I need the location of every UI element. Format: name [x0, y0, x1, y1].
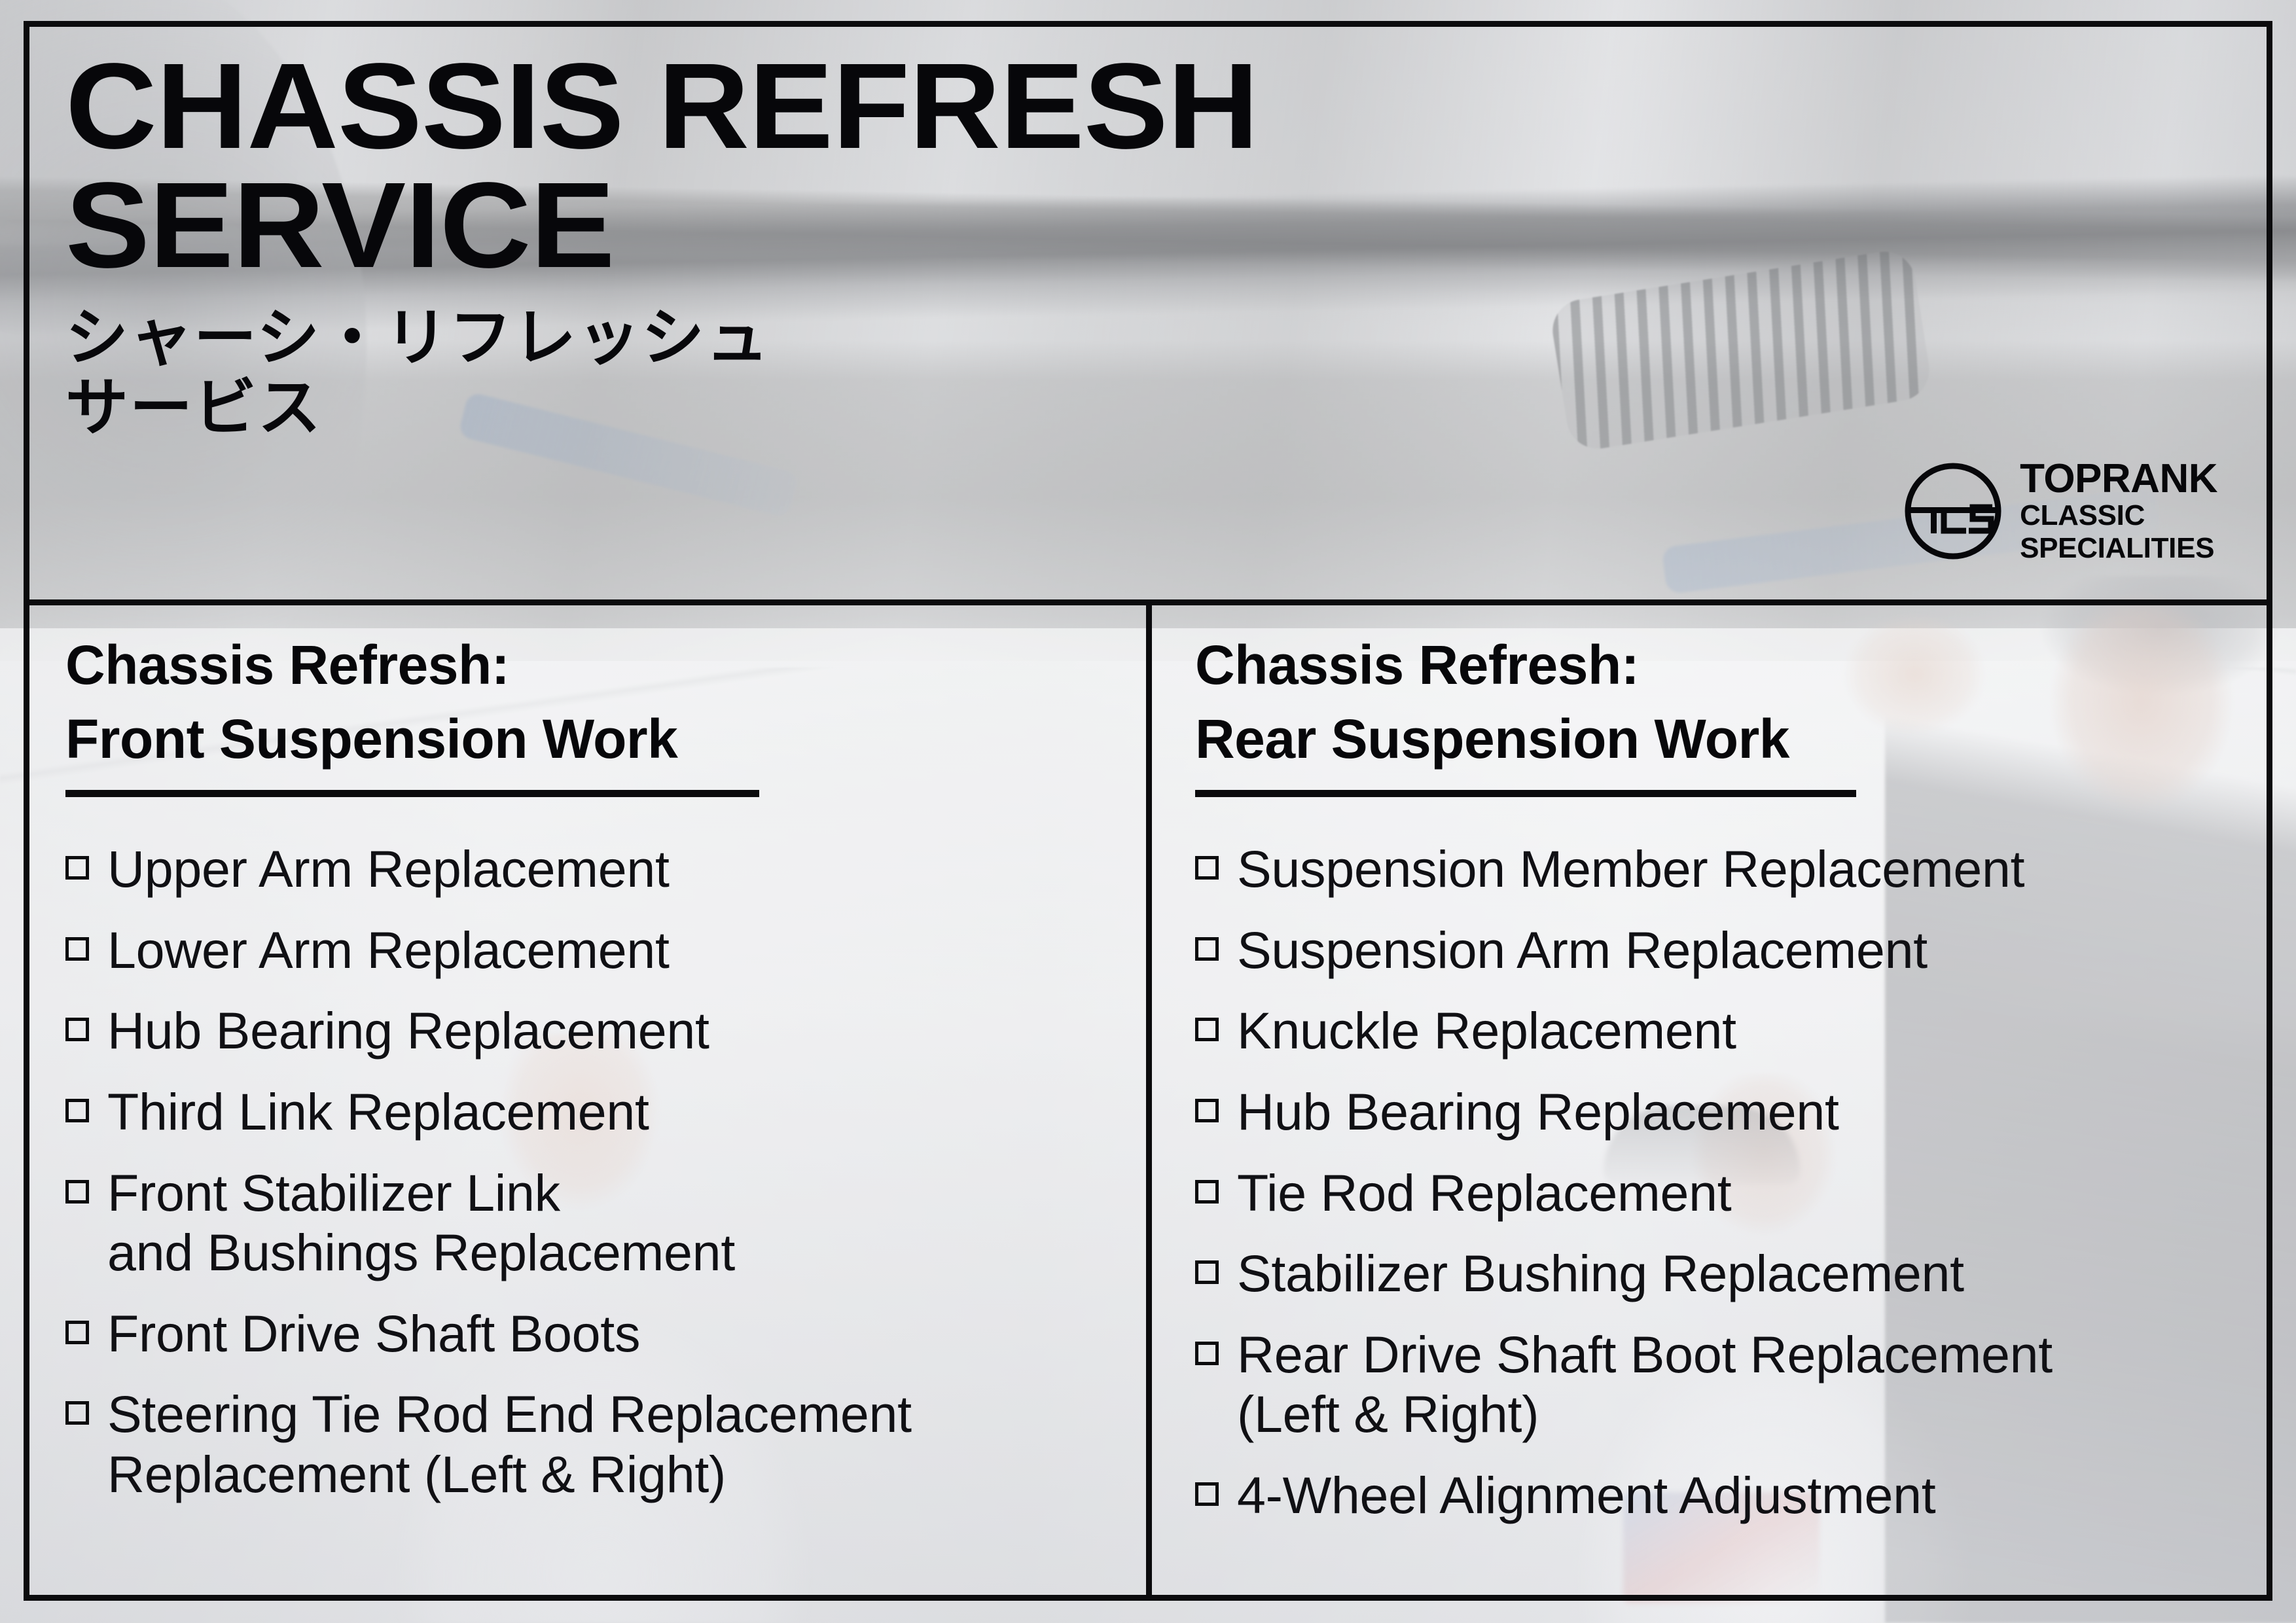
checklist-item-label: Knuckle Replacement — [1237, 1001, 1736, 1061]
rear-suspension-column: Chassis Refresh: Rear Suspension Work Su… — [1195, 628, 2229, 1546]
checkbox-icon[interactable] — [65, 1180, 89, 1204]
rear-column-heading-line-1: Chassis Refresh: — [1195, 628, 2229, 702]
checklist-item-label-continuation: and Bushings Replacement — [107, 1222, 735, 1283]
checklist-item[interactable]: Hub Bearing Replacement — [65, 1001, 1100, 1061]
checklist-item-label: Steering Tie Rod End ReplacementReplacem… — [107, 1384, 912, 1504]
checklist-item[interactable]: Suspension Arm Replacement — [1195, 920, 2229, 980]
front-suspension-column: Chassis Refresh: Front Suspension Work U… — [65, 628, 1100, 1525]
brand-logo: TOPRANK CLASSIC SPECIALITIES — [1903, 458, 2217, 564]
checklist-item[interactable]: Front Drive Shaft Boots — [65, 1304, 1100, 1364]
checklist-item[interactable]: Upper Arm Replacement — [65, 839, 1100, 899]
brand-name-toprank: TOPRANK — [2020, 458, 2217, 499]
checklist-item[interactable]: Stabilizer Bushing Replacement — [1195, 1243, 2229, 1304]
checkbox-icon[interactable] — [65, 1321, 89, 1344]
checkbox-icon[interactable] — [65, 1018, 89, 1041]
rear-suspension-checklist: Suspension Member ReplacementSuspension … — [1195, 839, 2229, 1525]
checkbox-icon[interactable] — [1195, 937, 1219, 961]
checklist-item[interactable]: Hub Bearing Replacement — [1195, 1082, 2229, 1142]
checklist-item-label: Rear Drive Shaft Boot Replacement(Left &… — [1237, 1325, 2053, 1444]
checkbox-icon[interactable] — [65, 1401, 89, 1425]
front-suspension-checklist: Upper Arm ReplacementLower Arm Replaceme… — [65, 839, 1100, 1505]
page-subtitle-japanese: シャーシ・リフレッシュ サービス — [65, 303, 1833, 444]
checklist-item[interactable]: Front Stabilizer Linkand Bushings Replac… — [65, 1163, 1100, 1283]
checkbox-icon[interactable] — [1195, 1018, 1219, 1041]
checklist-item-label: Lower Arm Replacement — [107, 920, 670, 980]
checklist-item-label: Third Link Replacement — [107, 1082, 649, 1142]
brand-name-specialities: SPECIALITIES — [2020, 532, 2217, 564]
checklist-item[interactable]: Rear Drive Shaft Boot Replacement(Left &… — [1195, 1325, 2229, 1444]
checklist-item-label-continuation: (Left & Right) — [1237, 1384, 2053, 1444]
checklist-item-label: Hub Bearing Replacement — [1237, 1082, 1839, 1142]
column-divider-line — [1146, 605, 1152, 1601]
checkbox-icon[interactable] — [65, 1099, 89, 1122]
checklist-item[interactable]: 4-Wheel Alignment Adjustment — [1195, 1465, 2229, 1525]
poster-header: CHASSIS REFRESH SERVICE シャーシ・リフレッシュ サービス — [65, 47, 1833, 444]
checklist-item-label: Front Drive Shaft Boots — [107, 1304, 640, 1364]
checklist-item[interactable]: Tie Rod Replacement — [1195, 1163, 2229, 1223]
page-title-line-1: CHASSIS REFRESH — [65, 47, 1903, 166]
poster-canvas: CHASSIS REFRESH SERVICE シャーシ・リフレッシュ サービス… — [0, 0, 2296, 1623]
checklist-item-label: Suspension Member Replacement — [1237, 839, 2024, 899]
checklist-item[interactable]: Suspension Member Replacement — [1195, 839, 2229, 899]
front-column-heading-line-1: Chassis Refresh: — [65, 628, 1100, 702]
brand-name-classic: CLASSIC — [2020, 499, 2217, 531]
checkbox-icon[interactable] — [1195, 1482, 1219, 1506]
checkbox-icon[interactable] — [65, 856, 89, 880]
front-column-underline — [65, 790, 759, 797]
checkbox-icon[interactable] — [1195, 856, 1219, 880]
rear-column-underline — [1195, 790, 1856, 797]
checklist-item[interactable]: Knuckle Replacement — [1195, 1001, 2229, 1061]
checklist-item-label: 4-Wheel Alignment Adjustment — [1237, 1465, 1935, 1525]
page-title-line-2: SERVICE — [65, 166, 1903, 285]
checkbox-icon[interactable] — [1195, 1180, 1219, 1204]
brand-logo-wordmark: TOPRANK CLASSIC SPECIALITIES — [2020, 458, 2217, 564]
page-subtitle-japanese-line-1: シャーシ・リフレッシュ — [65, 303, 1833, 374]
checklist-item[interactable]: Third Link Replacement — [65, 1082, 1100, 1142]
checklist-item[interactable]: Steering Tie Rod End ReplacementReplacem… — [65, 1384, 1100, 1504]
checklist-item-label: Stabilizer Bushing Replacement — [1237, 1243, 1964, 1304]
checkbox-icon[interactable] — [1195, 1099, 1219, 1122]
checklist-item-label: Tie Rod Replacement — [1237, 1163, 1731, 1223]
checklist-item-label: Hub Bearing Replacement — [107, 1001, 709, 1061]
checkbox-icon[interactable] — [1195, 1260, 1219, 1284]
tcs-monogram-icon — [1903, 461, 2003, 561]
checkbox-icon[interactable] — [1195, 1342, 1219, 1365]
checklist-item-label-continuation: Replacement (Left & Right) — [107, 1444, 912, 1505]
checklist-item-label: Front Stabilizer Linkand Bushings Replac… — [107, 1163, 735, 1283]
checkbox-icon[interactable] — [65, 937, 89, 961]
header-divider-line — [24, 599, 2272, 605]
rear-column-heading-line-2: Rear Suspension Work — [1195, 702, 2229, 776]
checklist-item-label: Upper Arm Replacement — [107, 839, 670, 899]
checklist-item-label: Suspension Arm Replacement — [1237, 920, 1928, 980]
checklist-item[interactable]: Lower Arm Replacement — [65, 920, 1100, 980]
front-column-heading-line-2: Front Suspension Work — [65, 702, 1100, 776]
page-subtitle-japanese-line-2: サービス — [65, 373, 1833, 444]
